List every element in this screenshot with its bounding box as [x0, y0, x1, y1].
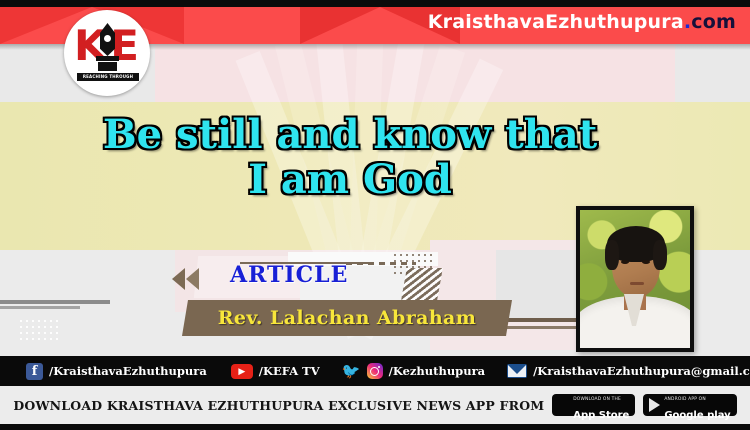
download-text: DOWNLOAD KRAISTHAVA EZHUTHUPURA EXCLUSIV… — [13, 398, 544, 413]
category-label: ARTICLE — [230, 262, 348, 288]
email-icon — [507, 364, 527, 378]
social-label-youtube: /KEFA TV — [259, 364, 320, 378]
portrait-hair-side — [605, 240, 619, 270]
twitter-icon: 🐦 — [342, 363, 361, 380]
social-item-email[interactable]: /KraisthavaEzhuthupura@gmail.com — [507, 364, 750, 378]
decoration-bar — [0, 306, 80, 309]
author-name: Rev. Lalachan Abraham — [182, 300, 512, 336]
headline-line-2: I am God — [0, 157, 700, 202]
social-item-instagram[interactable]: /Kezhuthupura — [367, 363, 485, 379]
decoration-bar — [0, 300, 110, 304]
portrait-eye — [621, 260, 629, 264]
pen-nib-hole-icon — [104, 35, 111, 42]
pen-barrel-icon — [98, 62, 117, 71]
portrait-hair-side — [653, 240, 667, 270]
stripe-pattern-decoration — [401, 268, 443, 300]
logo-tagline: REACHING THROUGH MEDIA — [77, 73, 139, 81]
social-item-youtube[interactable]: ▶ /KEFA TV — [231, 364, 320, 379]
top-black-strip — [0, 0, 750, 7]
site-name-tld: com — [691, 11, 736, 33]
portrait-eye — [642, 260, 650, 264]
social-item-twitter[interactable]: 🐦 — [342, 363, 361, 380]
instagram-icon — [367, 363, 383, 379]
google-play-big: Google play — [664, 410, 730, 421]
headline: Be still and know that I am God — [0, 112, 700, 202]
article-banner: KraisthavaEzhuthupura.com K E REACHING T… — [0, 0, 750, 430]
headline-line-1: Be still and know that — [0, 112, 700, 157]
social-label-email: /KraisthavaEzhuthupura@gmail.com — [533, 364, 750, 378]
app-store-text: Download on the App Store — [573, 387, 629, 423]
apple-icon:  — [558, 398, 569, 412]
site-name-main: KraisthavaEzhuthupura — [428, 11, 684, 33]
pen-nib-base-icon — [96, 56, 119, 61]
header-chevron-decoration — [300, 7, 380, 44]
social-label-facebook: /KraisthavaEzhuthupura — [49, 364, 207, 378]
facebook-icon: f — [26, 363, 43, 380]
app-store-big: App Store — [573, 410, 629, 421]
app-store-small: Download on the — [573, 397, 621, 402]
google-play-text: ANDROID APP ON Google play — [664, 387, 730, 423]
google-play-button[interactable]: ANDROID APP ON Google play — [643, 394, 736, 416]
play-triangle-icon — [649, 398, 660, 412]
download-bar: DOWNLOAD KRAISTHAVA EZHUTHUPURA EXCLUSIV… — [0, 386, 750, 424]
portrait-mouth — [630, 282, 644, 285]
site-name: KraisthavaEzhuthupura.com — [428, 11, 736, 33]
bottom-black-strip — [0, 424, 750, 430]
social-item-facebook[interactable]: f /KraisthavaEzhuthupura — [26, 363, 207, 380]
social-label-instagram: /Kezhuthupura — [389, 364, 485, 378]
google-play-small: ANDROID APP ON — [664, 397, 705, 402]
site-logo[interactable]: K E REACHING THROUGH MEDIA — [64, 10, 150, 96]
youtube-icon: ▶ — [231, 364, 253, 379]
app-store-button[interactable]:  Download on the App Store — [552, 394, 635, 416]
author-portrait — [576, 206, 694, 352]
social-bar: f /KraisthavaEzhuthupura ▶ /KEFA TV 🐦 /K… — [0, 356, 750, 386]
dot-pattern-decoration — [18, 318, 62, 344]
logo-graphic: K E REACHING THROUGH MEDIA — [71, 23, 143, 83]
